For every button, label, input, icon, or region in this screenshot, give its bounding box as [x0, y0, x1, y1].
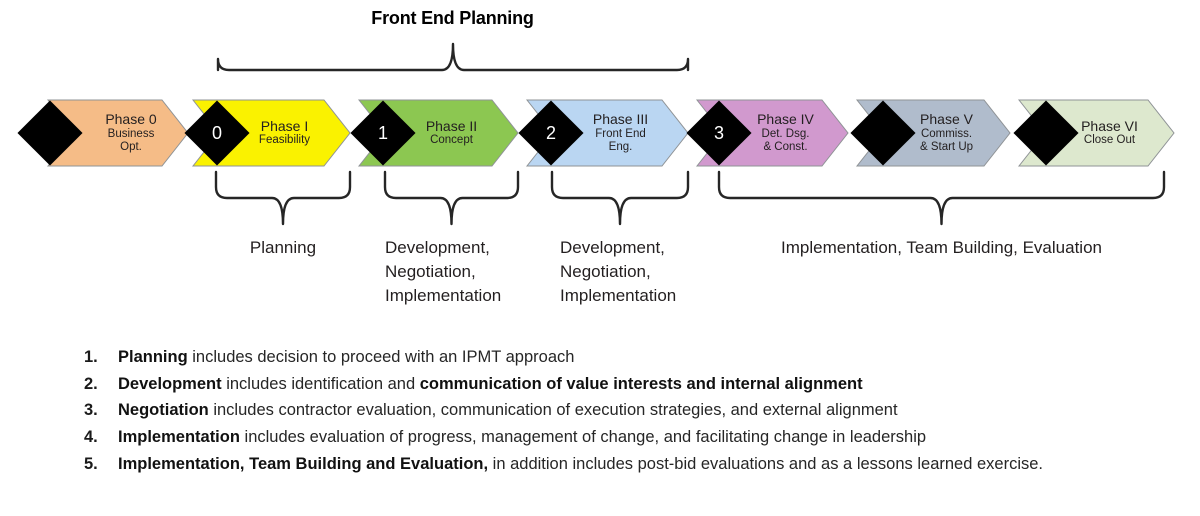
phase-0-subtitle-1: Business: [105, 128, 156, 141]
note-text-2: Development includes identification and …: [118, 371, 1144, 398]
bracket-planning: [216, 172, 350, 224]
phase-2-subtitle-1: Concept: [426, 134, 477, 147]
bracket-development-1: [385, 172, 518, 224]
phase-1-title: Phase I: [259, 119, 310, 135]
phase-5-subtitle-1: Commiss.: [920, 128, 973, 141]
phase-5-subtitle-2: & Start Up: [920, 141, 973, 154]
front-end-planning-bracket: [218, 44, 688, 70]
note-3-segment-1: Negotiation: [118, 401, 209, 419]
note-text-1: Planning includes decision to proceed wi…: [118, 344, 1144, 371]
note-number-1: 1.: [84, 344, 118, 371]
note-item-1: 1.Planning includes decision to proceed …: [84, 344, 1144, 371]
bracket-label-planning: Planning: [216, 236, 350, 260]
note-item-3: 3.Negotiation includes contractor evalua…: [84, 397, 1144, 424]
note-5-segment-2: in addition includes post-bid evaluation…: [488, 455, 1043, 473]
note-4-segment-1: Implementation: [118, 428, 240, 446]
phase-4-subtitle-1: Det. Dsg.: [757, 128, 814, 141]
note-3-segment-2: includes contractor evaluation, communic…: [209, 401, 898, 419]
gate-number-2: 2: [528, 110, 574, 156]
bracket-label-impl-team-eval-line-1: Implementation, Team Building, Evaluatio…: [719, 236, 1164, 260]
bracket-label-dev-neg-impl-1: Development,Negotiation,Implementation: [385, 236, 565, 308]
note-text-4: Implementation includes evaluation of pr…: [118, 424, 1144, 451]
phase-6-subtitle-1: Close Out: [1081, 134, 1138, 147]
phase-2-title: Phase II: [426, 119, 477, 135]
bracket-label-planning-line-1: Planning: [216, 236, 350, 260]
phase-3-title: Phase III: [593, 112, 648, 128]
note-5-segment-1: Implementation, Team Building and Evalua…: [118, 455, 488, 473]
phase-4-subtitle-2: & Const.: [757, 141, 814, 154]
note-2-segment-2: includes identification and: [222, 375, 420, 393]
phase-6-title: Phase VI: [1081, 119, 1138, 135]
front-end-planning-title: Front End Planning: [0, 8, 905, 29]
bracket-label-dev-neg-impl-2-line-3: Implementation: [560, 284, 740, 308]
phase-0-subtitle-2: Opt.: [105, 141, 156, 154]
note-text-3: Negotiation includes contractor evaluati…: [118, 397, 1144, 424]
bracket-label-impl-team-eval: Implementation, Team Building, Evaluatio…: [719, 236, 1164, 260]
notes-list: 1.Planning includes decision to proceed …: [84, 344, 1144, 478]
bracket-label-dev-neg-impl-2: Development,Negotiation,Implementation: [560, 236, 740, 308]
gate-number-3: 3: [696, 110, 742, 156]
note-1-segment-2: includes decision to proceed with an IPM…: [188, 348, 575, 366]
phase-1-subtitle-1: Feasibility: [259, 134, 310, 147]
gate-number-1: 1: [360, 110, 406, 156]
bracket-label-dev-neg-impl-1-line-1: Development,: [385, 236, 565, 260]
phase-3-subtitle-2: Eng.: [593, 141, 648, 154]
note-number-3: 3.: [84, 397, 118, 424]
note-item-5: 5.Implementation, Team Building and Eval…: [84, 451, 1144, 478]
bracket-label-dev-neg-impl-2-line-2: Negotiation,: [560, 260, 740, 284]
note-number-4: 4.: [84, 424, 118, 451]
phase-0-title: Phase 0: [105, 112, 156, 128]
note-number-2: 2.: [84, 371, 118, 398]
note-4-segment-2: includes evaluation of progress, managem…: [240, 428, 926, 446]
phase-4-title: Phase IV: [757, 112, 814, 128]
gate-number-0: 0: [194, 110, 240, 156]
note-2-segment-1: Development: [118, 375, 222, 393]
phase-5-title: Phase V: [920, 112, 973, 128]
bracket-development-2: [552, 172, 688, 224]
bracket-label-dev-neg-impl-1-line-2: Negotiation,: [385, 260, 565, 284]
note-number-5: 5.: [84, 451, 118, 478]
note-1-segment-1: Planning: [118, 348, 188, 366]
note-2-segment-3: communication of value interests and int…: [420, 375, 863, 393]
bracket-label-dev-neg-impl-2-line-1: Development,: [560, 236, 740, 260]
bracket-label-dev-neg-impl-1-line-3: Implementation: [385, 284, 565, 308]
note-text-5: Implementation, Team Building and Evalua…: [118, 451, 1144, 478]
note-item-2: 2.Development includes identification an…: [84, 371, 1144, 398]
bracket-implementation: [719, 172, 1164, 224]
phase-3-subtitle-1: Front End: [593, 128, 648, 141]
diagram-canvas: Front End Planning Phase 0BusinessOpt.Ph…: [0, 0, 1200, 516]
note-item-4: 4.Implementation includes evaluation of …: [84, 424, 1144, 451]
